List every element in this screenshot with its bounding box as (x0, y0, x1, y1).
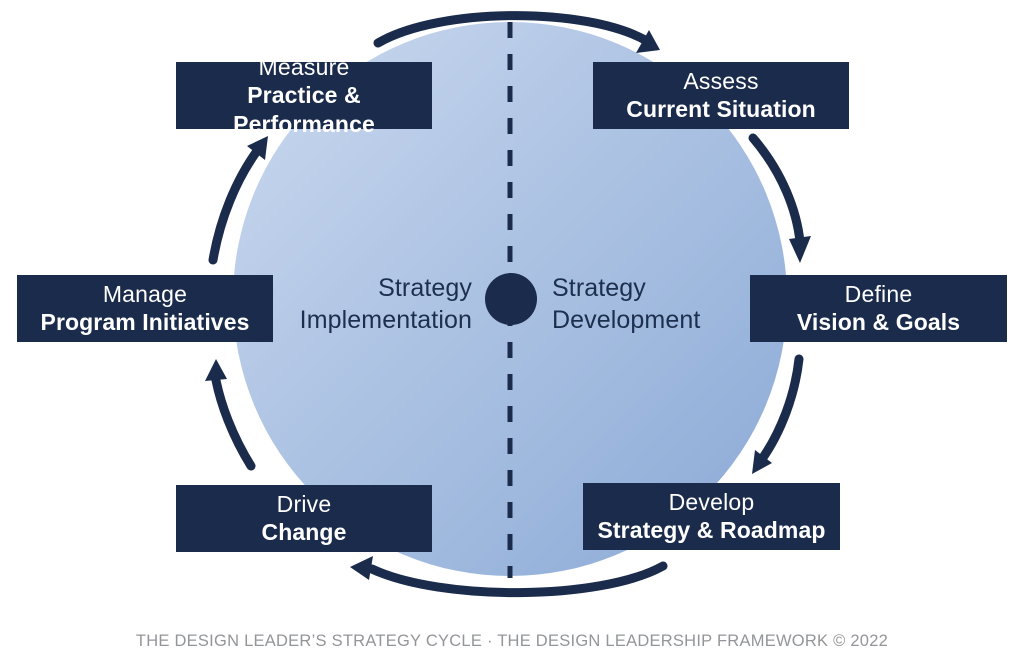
stage-subject-develop: Strategy & Roadmap (597, 516, 825, 545)
stage-subject-define: Vision & Goals (797, 308, 960, 337)
axis-label-strategy-development: Strategy Development (552, 272, 742, 336)
stage-box-assess[interactable]: Assess Current Situation (593, 62, 849, 129)
stage-subject-assess: Current Situation (626, 95, 816, 124)
stage-verb-define: Define (845, 280, 913, 308)
stage-subject-measure: Practice & Performance (176, 81, 432, 139)
footer-caption: THE DESIGN LEADER’S STRATEGY CYCLE · THE… (0, 632, 1024, 651)
stage-box-develop[interactable]: Develop Strategy & Roadmap (583, 483, 840, 550)
stage-box-measure[interactable]: Measure Practice & Performance (176, 62, 432, 129)
center-node-dot (485, 273, 537, 325)
stage-subject-manage: Program Initiatives (41, 308, 250, 337)
stage-subject-drive: Change (262, 518, 347, 547)
stage-verb-manage: Manage (103, 280, 187, 308)
strategy-cycle-diagram: Strategy Implementation Strategy Develop… (0, 0, 1024, 669)
stage-box-define[interactable]: Define Vision & Goals (750, 275, 1007, 342)
stage-verb-measure: Measure (259, 53, 350, 81)
stage-box-manage[interactable]: Manage Program Initiatives (17, 275, 273, 342)
axis-label-strategy-implementation: Strategy Implementation (286, 272, 472, 336)
stage-box-drive[interactable]: Drive Change (176, 485, 432, 552)
stage-verb-develop: Develop (669, 488, 755, 516)
stage-verb-drive: Drive (277, 490, 332, 518)
stage-verb-assess: Assess (683, 67, 758, 95)
